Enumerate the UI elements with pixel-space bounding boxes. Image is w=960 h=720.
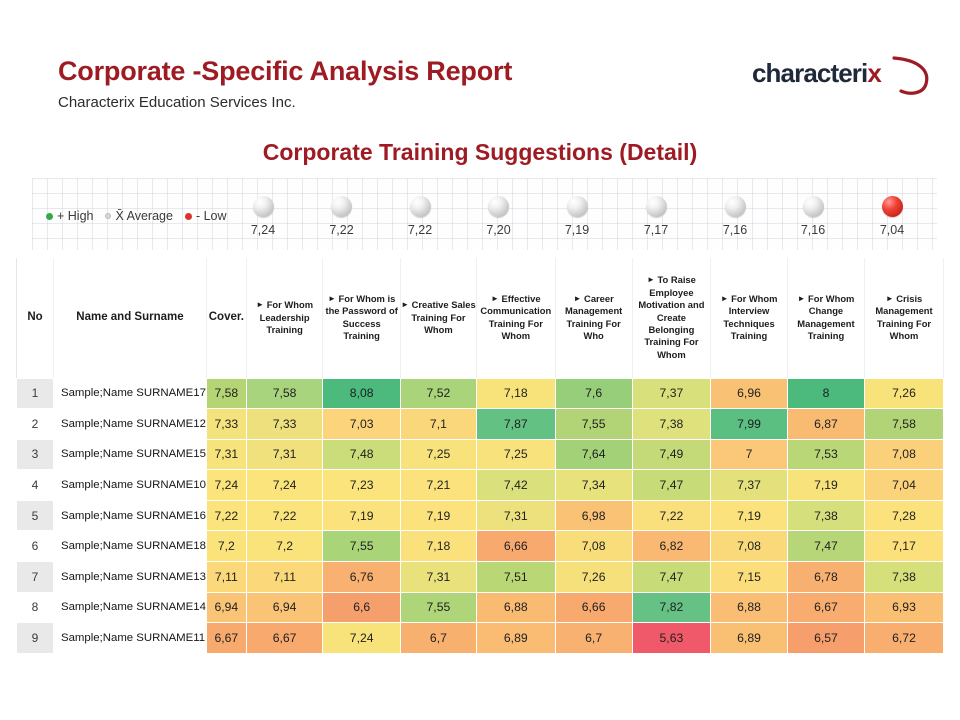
row-number: 3: [17, 439, 54, 470]
cell-coverage: 7,24: [206, 470, 246, 501]
cell-score: 7,55: [555, 409, 632, 440]
column-header-label: For Whom Leadership Training: [260, 299, 313, 335]
row-person-name: Sample;Name SURNAME10: [53, 470, 206, 501]
column-header-c5[interactable]: ► Career Management Training For Who: [555, 258, 632, 378]
cell-score: 7,87: [476, 409, 555, 440]
row-person-name: Sample;Name SURNAME13: [53, 562, 206, 593]
cell-score: 6,7: [400, 623, 476, 654]
column-header-label: Creative Sales Training For Whom: [411, 299, 475, 335]
cell-score: 7,42: [476, 470, 555, 501]
legend-low-dot-icon: [185, 213, 192, 220]
cell-score: 7,19: [787, 470, 864, 501]
cell-score: 7,51: [476, 562, 555, 593]
cell-score: 6,82: [632, 531, 710, 562]
sort-arrow-icon: ►: [721, 294, 729, 303]
sort-arrow-icon: ►: [574, 294, 582, 303]
summary-sphere-value: 7,16: [774, 223, 852, 237]
cell-score: 7,08: [711, 531, 788, 562]
cell-score: 7,08: [555, 531, 632, 562]
summary-band: + High X̄ Average - Low 7,247,227,227,20…: [32, 178, 937, 250]
cell-score: 7,15: [711, 562, 788, 593]
legend-average-label: X̄ Average: [115, 209, 172, 223]
column-header-label: For Whom Interview Techniques Training: [723, 293, 777, 341]
summary-sphere-6: 7,17: [616, 178, 696, 250]
cell-coverage: 7,31: [206, 439, 246, 470]
column-header-c7[interactable]: ► For Whom Interview Techniques Training: [711, 258, 788, 378]
sort-arrow-icon: ►: [798, 294, 806, 303]
cell-score: 6,66: [476, 531, 555, 562]
cell-score: 7,49: [632, 439, 710, 470]
cell-score: 7,18: [476, 378, 555, 409]
cell-score: 7,55: [400, 592, 476, 623]
cell-score: 6,7: [555, 623, 632, 654]
sort-arrow-icon: ►: [647, 275, 655, 284]
summary-sphere-7: 7,16: [696, 178, 774, 250]
summary-sphere-value: 7,19: [538, 223, 616, 237]
cell-score: 6,78: [787, 562, 864, 593]
row-number: 8: [17, 592, 54, 623]
cell-coverage: 7,11: [206, 562, 246, 593]
report-subtitle: Characterix Education Services Inc.: [58, 94, 296, 111]
cell-score: 6,72: [864, 623, 943, 654]
sort-arrow-icon: ►: [328, 294, 336, 303]
sphere-icon: [488, 196, 509, 217]
cell-score: 7,11: [246, 562, 323, 593]
column-header-cov[interactable]: Cover.: [206, 258, 246, 378]
cell-score: 7,04: [864, 470, 943, 501]
cell-score: 7,23: [323, 470, 400, 501]
cell-score: 6,76: [323, 562, 400, 593]
table-row[interactable]: 4Sample;Name SURNAME107,247,247,237,217,…: [17, 470, 944, 501]
row-person-name: Sample;Name SURNAME14: [53, 592, 206, 623]
cell-score: 7,25: [476, 439, 555, 470]
row-number: 4: [17, 470, 54, 501]
table-row[interactable]: 5Sample;Name SURNAME167,227,227,197,197,…: [17, 500, 944, 531]
cell-score: 7,37: [632, 378, 710, 409]
sphere-icon: [803, 196, 824, 217]
cell-coverage: 7,58: [206, 378, 246, 409]
cell-coverage: 7,2: [206, 531, 246, 562]
row-person-name: Sample;Name SURNAME16: [53, 500, 206, 531]
cell-score: 7,64: [555, 439, 632, 470]
summary-sphere-3: 7,22: [381, 178, 459, 250]
row-person-name: Sample;Name SURNAME12: [53, 409, 206, 440]
legend-high-dot-icon: [46, 213, 53, 220]
cell-coverage: 7,33: [206, 409, 246, 440]
cell-score: 6,66: [555, 592, 632, 623]
column-header-c6[interactable]: ► To Raise Employee Motivation and Creat…: [632, 258, 710, 378]
cell-score: 7,18: [400, 531, 476, 562]
cell-score: 7,37: [711, 470, 788, 501]
cell-score: 7,47: [632, 470, 710, 501]
cell-score: 6,87: [787, 409, 864, 440]
sphere-icon: [253, 196, 274, 217]
table-row[interactable]: 8Sample;Name SURNAME146,946,946,67,556,8…: [17, 592, 944, 623]
page-title: Corporate Training Suggestions (Detail): [0, 139, 960, 166]
sort-arrow-icon: ►: [256, 300, 264, 309]
cell-score: 8: [787, 378, 864, 409]
sort-arrow-icon: ►: [886, 294, 894, 303]
legend: + High X̄ Average - Low: [46, 209, 235, 223]
logo-accent-x: x: [867, 58, 881, 88]
table-row[interactable]: 1Sample;Name SURNAME177,587,588,087,527,…: [17, 378, 944, 409]
cell-score: 7,99: [711, 409, 788, 440]
cell-score: 7,34: [555, 470, 632, 501]
row-number: 6: [17, 531, 54, 562]
cell-score: 7,58: [864, 409, 943, 440]
cell-score: 7,48: [323, 439, 400, 470]
cell-score: 7,17: [864, 531, 943, 562]
table-header: NoName and SurnameCover.► For Whom Leade…: [17, 258, 944, 378]
sort-arrow-icon: ►: [491, 294, 499, 303]
cell-score: 5,63: [632, 623, 710, 654]
cell-score: 7,2: [246, 531, 323, 562]
table-row[interactable]: 6Sample;Name SURNAME187,27,27,557,186,66…: [17, 531, 944, 562]
logo-wordmark-text: characteri: [752, 58, 867, 88]
cell-score: 7,58: [246, 378, 323, 409]
column-header-c9[interactable]: ► Crisis Management Training For Whom: [864, 258, 943, 378]
summary-sphere-value: 7,20: [459, 223, 538, 237]
table-row[interactable]: 2Sample;Name SURNAME127,337,337,037,17,8…: [17, 409, 944, 440]
cell-score: 7,25: [400, 439, 476, 470]
cell-score: 7,31: [400, 562, 476, 593]
cell-score: 7,1: [400, 409, 476, 440]
column-header-no[interactable]: No: [17, 258, 54, 378]
legend-average-dot-icon: [105, 213, 111, 219]
sphere-icon: [882, 196, 903, 217]
table-row[interactable]: 3Sample;Name SURNAME157,317,317,487,257,…: [17, 439, 944, 470]
cell-score: 7,38: [632, 409, 710, 440]
column-header-label: Cover.: [209, 311, 244, 323]
table-row[interactable]: 7Sample;Name SURNAME137,117,116,767,317,…: [17, 562, 944, 593]
cell-score: 7,21: [400, 470, 476, 501]
row-number: 5: [17, 500, 54, 531]
cell-coverage: 7,22: [206, 500, 246, 531]
column-header-label: No: [27, 311, 42, 323]
cell-score: 6,67: [246, 623, 323, 654]
table-header-row: NoName and SurnameCover.► For Whom Leade…: [17, 258, 944, 378]
row-number: 2: [17, 409, 54, 440]
summary-sphere-value: 7,17: [616, 223, 696, 237]
summary-sphere-value: 7,24: [224, 223, 302, 237]
cell-score: 7,08: [864, 439, 943, 470]
cell-score: 6,88: [476, 592, 555, 623]
report-title: Corporate -Specific Analysis Report: [58, 56, 512, 87]
cell-score: 7,47: [632, 562, 710, 593]
cell-score: 7,22: [246, 500, 323, 531]
cell-score: 7,19: [323, 500, 400, 531]
column-header-c3[interactable]: ► Creative Sales Training For Whom: [400, 258, 476, 378]
row-person-name: Sample;Name SURNAME18: [53, 531, 206, 562]
row-person-name: Sample;Name SURNAME17: [53, 378, 206, 409]
cell-score: 6,93: [864, 592, 943, 623]
column-header-label: Crisis Management Training For Whom: [875, 293, 932, 341]
column-header-label: To Raise Employee Motivation and Create …: [638, 274, 704, 359]
cell-score: 7,38: [787, 500, 864, 531]
cell-score: 7,22: [632, 500, 710, 531]
training-suggestions-table: NoName and SurnameCover.► For Whom Leade…: [16, 258, 944, 654]
characterix-logo: characterix: [752, 58, 932, 92]
cell-score: 6,96: [711, 378, 788, 409]
column-header-name[interactable]: Name and Surname: [53, 258, 206, 378]
sphere-icon: [410, 196, 431, 217]
sphere-icon: [646, 196, 667, 217]
cell-score: 7,47: [787, 531, 864, 562]
column-header-label: For Whom is the Password of Success Trai…: [325, 293, 397, 341]
cell-score: 7,19: [711, 500, 788, 531]
column-header-c2[interactable]: ► For Whom is the Password of Success Tr…: [323, 258, 400, 378]
cell-score: 6,89: [711, 623, 788, 654]
summary-sphere-value: 7,22: [302, 223, 381, 237]
cell-score: 6,88: [711, 592, 788, 623]
row-number: 9: [17, 623, 54, 654]
logo-wordmark: characterix: [752, 58, 881, 89]
cell-coverage: 6,67: [206, 623, 246, 654]
cell-score: 6,6: [323, 592, 400, 623]
summary-sphere-8: 7,16: [774, 178, 852, 250]
cell-score: 6,67: [787, 592, 864, 623]
cell-score: 6,57: [787, 623, 864, 654]
cell-score: 7,82: [632, 592, 710, 623]
cell-score: 7,38: [864, 562, 943, 593]
column-header-c1[interactable]: ► For Whom Leadership Training: [246, 258, 323, 378]
row-person-name: Sample;Name SURNAME11: [53, 623, 206, 654]
column-header-c4[interactable]: ► Effective Communication Training For W…: [476, 258, 555, 378]
cell-score: 6,89: [476, 623, 555, 654]
cell-score: 7,33: [246, 409, 323, 440]
summary-sphere-value: 7,16: [696, 223, 774, 237]
cell-score: 8,08: [323, 378, 400, 409]
logo-swoosh-icon: [888, 56, 934, 96]
cell-score: 6,98: [555, 500, 632, 531]
cell-score: 7,26: [864, 378, 943, 409]
column-header-label: For Whom Change Management Training: [797, 293, 854, 341]
sphere-icon: [331, 196, 352, 217]
cell-score: 7,55: [323, 531, 400, 562]
cell-score: 7: [711, 439, 788, 470]
sphere-icon: [567, 196, 588, 217]
legend-high-label: + High: [57, 209, 93, 223]
table-body: 1Sample;Name SURNAME177,587,588,087,527,…: [17, 378, 944, 653]
summary-sphere-value: 7,04: [852, 223, 932, 237]
sphere-icon: [725, 196, 746, 217]
summary-sphere-9: 7,04: [852, 178, 932, 250]
cell-score: 7,24: [246, 470, 323, 501]
report-header: Corporate -Specific Analysis Report Char…: [0, 0, 960, 120]
cell-score: 7,52: [400, 378, 476, 409]
summary-sphere-4: 7,20: [459, 178, 538, 250]
summary-sphere-value: 7,22: [381, 223, 459, 237]
cell-score: 7,31: [476, 500, 555, 531]
column-header-label: Name and Surname: [76, 311, 183, 323]
row-person-name: Sample;Name SURNAME15: [53, 439, 206, 470]
cell-score: 7,31: [246, 439, 323, 470]
cell-score: 7,24: [323, 623, 400, 654]
summary-sphere-1: 7,24: [224, 178, 302, 250]
sort-arrow-icon: ►: [401, 300, 409, 309]
cell-score: 6,94: [246, 592, 323, 623]
legend-low-label: - Low: [196, 209, 227, 223]
summary-sphere-5: 7,19: [538, 178, 616, 250]
cell-score: 7,28: [864, 500, 943, 531]
cell-score: 7,03: [323, 409, 400, 440]
cell-score: 7,53: [787, 439, 864, 470]
row-number: 1: [17, 378, 54, 409]
column-header-c8[interactable]: ► For Whom Change Management Training: [787, 258, 864, 378]
cell-score: 7,26: [555, 562, 632, 593]
table-row[interactable]: 9Sample;Name SURNAME116,676,677,246,76,8…: [17, 623, 944, 654]
summary-sphere-2: 7,22: [302, 178, 381, 250]
cell-coverage: 6,94: [206, 592, 246, 623]
row-number: 7: [17, 562, 54, 593]
cell-score: 7,6: [555, 378, 632, 409]
cell-score: 7,19: [400, 500, 476, 531]
